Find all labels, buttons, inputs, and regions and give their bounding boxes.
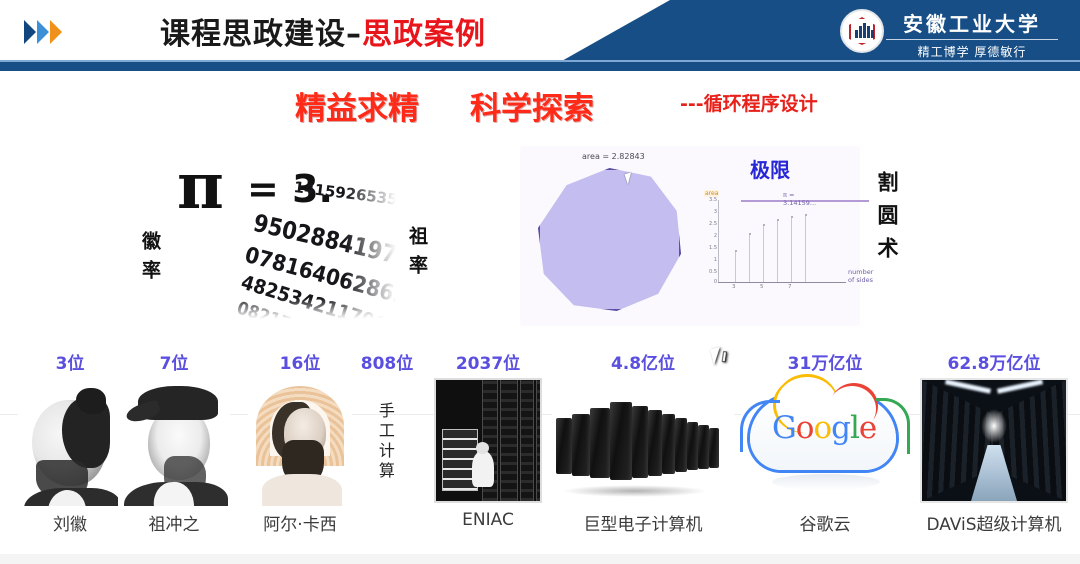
timeline-caption: DAViS超级计算机 bbox=[908, 510, 1080, 535]
pi-label-huilv: 徽率 bbox=[137, 231, 164, 289]
timeline-item: 808位 手工计算 bbox=[348, 349, 426, 510]
timeline-caption: ENIAC bbox=[426, 510, 550, 530]
timeline-caption: 阿尔·卡西 bbox=[248, 510, 352, 535]
timeline-caption: 谷歌云 bbox=[742, 510, 908, 535]
university-branding: 安徽工业大学 精工博学 厚德敏行 bbox=[886, 8, 1058, 60]
limit-title: 极限 bbox=[750, 154, 790, 183]
chart-x-axis bbox=[718, 282, 846, 283]
pi-precision-timeline: 3位 刘徽 7位 祖冲之 bbox=[0, 349, 1080, 564]
zu-chongzhi-portrait bbox=[118, 378, 230, 506]
chart-x-tick: 7 bbox=[788, 284, 792, 290]
google-cloud-logo: Google bbox=[742, 378, 908, 506]
manual-calculation-note: 手工计算 bbox=[348, 378, 426, 506]
headline-primary: 精益求精 bbox=[295, 83, 419, 128]
polygon-limit-figure: area = 2.82843 极限 area π = 3.14159... 3.… bbox=[520, 146, 860, 326]
chart-plot-area: π = 3.14159... 3.5 3 2.5 2 1.5 1 0.5 0 bbox=[718, 200, 828, 282]
chart-y-tick: 1.5 bbox=[703, 245, 717, 251]
supercomputer-photo bbox=[552, 378, 734, 506]
chart-y-axis-label: area bbox=[704, 190, 719, 197]
pi-digits-image: π = 3. 1415926535897932 9502884197169399… bbox=[155, 149, 405, 324]
header-band bbox=[0, 62, 1080, 71]
timeline-item: 2037位 ENIAC bbox=[426, 349, 550, 530]
slide-footer-strip bbox=[0, 554, 1080, 564]
timeline-digits: 62.8万亿位 bbox=[908, 349, 1080, 374]
cut-circle-method-label: 割圆术 bbox=[872, 171, 902, 270]
timeline-digits: 808位 bbox=[348, 349, 426, 374]
timeline-digits: 16位 bbox=[248, 349, 352, 374]
chart-reference-label: π = 3.14159... bbox=[783, 191, 828, 207]
timeline-item: 16位 阿尔·卡西 bbox=[248, 349, 352, 535]
timeline-digits: 7位 bbox=[118, 349, 230, 374]
timeline-item: 31万亿位 Google 谷歌云 bbox=[742, 349, 908, 535]
slide-body: 精益求精 科学探索 ---循环程序设计 π = 3. 1415926535897… bbox=[0, 71, 1080, 564]
chart-y-tick: 3 bbox=[703, 209, 717, 215]
timeline-caption: 祖冲之 bbox=[118, 510, 230, 535]
eniac-photo bbox=[426, 378, 550, 506]
university-motto: 精工博学 厚德敏行 bbox=[886, 43, 1058, 60]
chart-y-tick: 2 bbox=[703, 233, 717, 239]
inscribed-polygon-shape bbox=[538, 168, 681, 311]
page-title-main: 课程思政建设– bbox=[160, 17, 362, 52]
timeline-digits: 2037位 bbox=[426, 349, 550, 374]
manual-calculation-text: 手工计算 bbox=[375, 402, 393, 482]
headline-secondary: 科学探索 bbox=[470, 83, 594, 128]
chart-x-tick: 5 bbox=[760, 284, 764, 290]
chart-y-tick: 1 bbox=[703, 257, 717, 263]
university-name: 安徽工业大学 bbox=[886, 8, 1058, 37]
slide-header: 课程思政建设–思政案例 安徽工业大学 精工博学 厚德敏行 bbox=[0, 0, 1080, 62]
google-wordmark: Google bbox=[772, 410, 876, 446]
chart-x-axis-label: number of sides bbox=[848, 268, 873, 284]
chart-x-tick: 3 bbox=[732, 284, 736, 290]
liu-hui-portrait bbox=[18, 378, 122, 506]
timeline-caption: 刘徽 bbox=[18, 510, 122, 535]
datacenter-photo bbox=[908, 378, 1080, 506]
timeline-item: 4.8亿位 bbox=[552, 349, 734, 535]
timeline-item: 62.8万亿位 DAViS超级计算机 bbox=[908, 349, 1080, 535]
timeline-digits: 3位 bbox=[18, 349, 122, 374]
pi-label-zulv: 祖率 bbox=[404, 226, 431, 284]
timeline-digits: 4.8亿位 bbox=[552, 349, 734, 374]
page-title: 课程思政建设–思政案例 bbox=[160, 9, 486, 53]
presentation-slide: 课程思政建设–思政案例 安徽工业大学 精工博学 厚德敏行 精益求精 科学探索 -… bbox=[0, 0, 1080, 564]
timeline-caption: 巨型电子计算机 bbox=[552, 510, 734, 535]
chart-y-tick: 3.5 bbox=[703, 197, 717, 203]
timeline-item: 7位 祖冲之 bbox=[118, 349, 230, 535]
polygon-area-readout: area = 2.82843 bbox=[582, 152, 645, 161]
al-kashi-portrait bbox=[248, 378, 352, 506]
headline-subtitle: ---循环程序设计 bbox=[680, 89, 818, 116]
timeline-digits: 31万亿位 bbox=[742, 349, 908, 374]
chart-y-tick: 2.5 bbox=[703, 221, 717, 227]
chart-y-tick: 0 bbox=[703, 279, 717, 285]
branding-divider bbox=[886, 39, 1058, 40]
page-title-accent: 思政案例 bbox=[362, 17, 486, 52]
chevrons-right-icon bbox=[24, 20, 62, 44]
university-seal-icon bbox=[840, 9, 884, 53]
chart-y-tick: 0.5 bbox=[703, 269, 717, 275]
area-vs-sides-chart: area π = 3.14159... 3.5 3 2.5 2 1.5 1 0.… bbox=[696, 190, 846, 305]
timeline-item: 3位 刘徽 bbox=[18, 349, 122, 535]
